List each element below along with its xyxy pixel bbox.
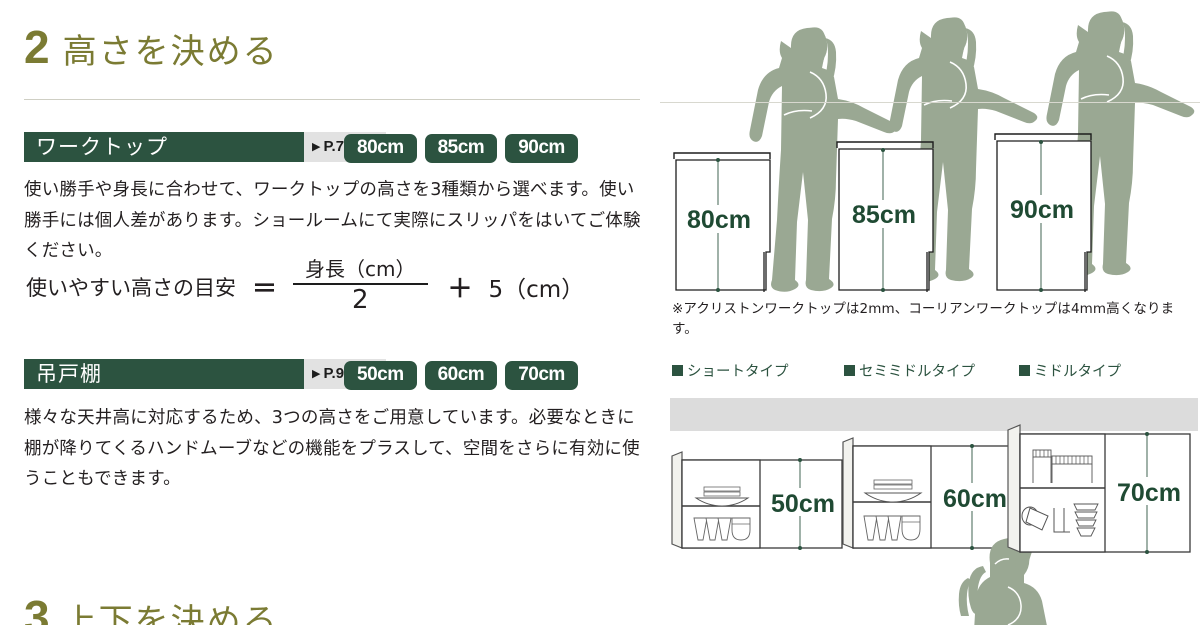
triangle-right-icon: ▶ [312,369,320,380]
cabinet-label-60: 60cm [943,485,1007,513]
formula-numerator: 身長（cm） [293,258,427,283]
cabinet-type-legend: ショートタイプ セミミドルタイプ ミドルタイプ [672,360,1192,381]
formula-fraction: 身長（cm） 2 [293,258,427,315]
worktop-illustration: 80cm 85cm 90cm [660,10,1200,290]
next-section-number: 3 [24,594,49,625]
counter-label-90: 90cm [1010,196,1074,224]
wall-cabinet-pill-60: 60cm [425,361,498,390]
wall-cabinet-pill-70: 70cm [505,361,578,390]
wall-cabinet-pills: 50cm 60cm 70cm [344,361,578,390]
wall-cabinet-illustration: 50cm 60cm [660,388,1200,625]
legend-item-short: ショートタイプ [672,360,844,381]
section-title: 高さを決める [63,35,279,69]
legend-item-semi-middle: セミミドルタイプ [844,360,1019,381]
formula-lhs: 使いやすい高さの目安 [26,272,236,302]
legend-item-middle: ミドルタイプ [1019,360,1121,381]
cabinet-label-50: 50cm [771,490,835,518]
wall-cabinet-band: 吊戸棚 ▶ P.93-94 [24,359,386,389]
worktop-pill-90: 90cm [505,134,578,163]
square-marker-icon [844,365,855,376]
wall-cabinet-paragraph: 様々な天井高に対応するため、3つの高さをご用意しています。必要なときに棚が降りて… [24,403,652,495]
legend-label-middle: ミドルタイプ [1034,360,1121,381]
section-heading: 2 高さを決める [24,24,279,70]
worktop-note: ※アクリストンワークトップは2mm、コーリアンワークトップは4mm高くなります。 [672,297,1192,337]
counter-85: 85cm [837,142,933,292]
counter-90: 90cm [995,134,1091,292]
ceiling-band [670,398,1198,431]
formula-equals: ＝ [252,269,277,305]
legend-label-semi-middle: セミミドルタイプ [859,360,975,381]
height-formula: 使いやすい高さの目安 ＝ 身長（cm） 2 ＋ 5（cm） [26,258,584,315]
worktop-pill-85: 85cm [425,134,498,163]
formula-denominator: 2 [352,285,369,316]
triangle-right-icon: ▶ [312,142,320,153]
counter-label-85: 85cm [852,201,916,229]
worktop-band: ワークトップ ▶ P.73-74 [24,132,386,162]
legend-label-short: ショートタイプ [687,360,789,381]
cabinet-semi-middle-60: 60cm [843,438,1013,550]
formula-plus: ＋ [448,269,473,305]
counter-label-80: 80cm [687,206,751,234]
reference-line [660,102,1200,103]
next-section-heading: 3 上下を決める [24,594,279,625]
cabinet-label-70: 70cm [1117,479,1181,507]
worktop-pill-80: 80cm [344,134,417,163]
wall-cabinet-illustration-svg: 50cm 60cm [660,388,1200,625]
section-number: 2 [24,24,49,70]
counter-80: 80cm [674,153,770,292]
worktop-paragraph: 使い勝手や身長に合わせて、ワークトップの高さを3種類から選べます。使い勝手には個… [24,175,652,267]
worktop-illustration-svg: 80cm 85cm 90cm [660,10,1200,295]
wall-cabinet-pill-50: 50cm [344,361,417,390]
next-section-title: 上下を決める [63,605,279,625]
formula-tail: 5（cm） [489,270,585,304]
square-marker-icon [672,365,683,376]
wall-cabinet-band-label: 吊戸棚 [24,359,304,389]
worktop-pills: 80cm 85cm 90cm [344,134,578,163]
heading-divider [24,99,640,100]
square-marker-icon [1019,365,1030,376]
worktop-band-label: ワークトップ [24,132,304,162]
cabinet-short-50: 50cm [672,452,842,550]
cabinet-middle-70: 70cm [1008,425,1190,554]
catalog-page: 2 高さを決める ワークトップ ▶ P.73-74 80cm 85cm 90cm… [0,0,1200,625]
